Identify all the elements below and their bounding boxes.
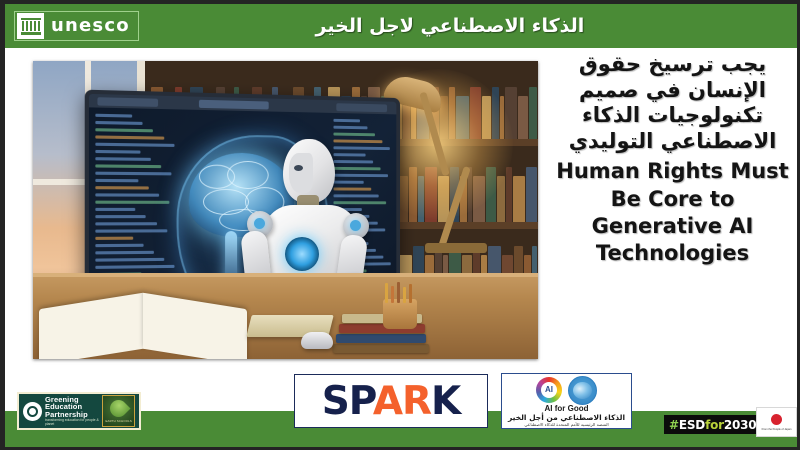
japan-caption: From the People of Japan — [762, 428, 792, 431]
pencil-cup — [383, 299, 417, 329]
gep-badge-caption: EARTH SCHOOLS — [105, 419, 131, 423]
robot-head — [283, 139, 335, 203]
gep-leaf-badge: EARTH SCHOOLS — [102, 395, 135, 427]
desk-surface — [33, 273, 538, 359]
spark-logo[interactable]: SPARK — [294, 374, 488, 428]
greening-education-partnership-logo[interactable]: Greening Education Partnership transform… — [17, 392, 141, 430]
japan-flag-icon — [762, 412, 792, 427]
esd-hash: # — [669, 418, 679, 432]
spark-wordmark: SPARK — [322, 382, 461, 421]
gep-text: Greening Education Partnership transform… — [45, 396, 99, 427]
united-nations-globe-icon — [568, 376, 597, 405]
esd-for-2030-badge[interactable]: #ESDfor2030 — [664, 415, 761, 434]
lamp-base — [425, 243, 487, 253]
japan-donor-mark: From the People of Japan — [756, 407, 797, 437]
header-title: الذكاء الاصطناعي لاجل الخير — [139, 15, 797, 37]
unesco-logo: unesco — [14, 11, 139, 41]
message-panel: يجب ترسيخ حقوق الإنسان في صميم تكنولوجيا… — [548, 52, 797, 268]
gep-globe-icon — [23, 402, 42, 421]
message-arabic: يجب ترسيخ حقوق الإنسان في صميم تكنولوجيا… — [548, 52, 797, 154]
unesco-wordmark: unesco — [51, 17, 130, 35]
open-book — [39, 291, 247, 357]
esd-label: ESD — [679, 418, 705, 432]
ai-mark-label: AI — [541, 382, 557, 398]
ai-for-good-subtitle-ar: المنصة الرئيسية للأمم المتحدة للذكاء الا… — [505, 422, 628, 427]
ai-for-good-title-ar: الذكاء الاصطناعي من أجل الخير — [505, 414, 628, 423]
computer-mouse — [301, 332, 333, 349]
ai-for-good-logo[interactable]: AI AI for Good الذكاء الاصطناعي من أجل ا… — [501, 373, 632, 429]
spark-part2: AR — [373, 379, 431, 424]
header-bar: unesco الذكاء الاصطناعي لاجل الخير — [5, 4, 797, 48]
message-english: Human Rights Must Be Core to Generative … — [548, 158, 797, 267]
esd-year: 2030 — [724, 418, 757, 432]
spark-part1: SP — [322, 379, 373, 424]
poster-slide: unesco الذكاء الاصطناعي لاجل الخير — [0, 0, 800, 450]
spark-part3: K — [431, 379, 460, 424]
ai-for-good-icons: AI — [505, 376, 628, 404]
unesco-temple-icon — [17, 13, 44, 39]
ai-for-good-icon: AI — [536, 377, 562, 403]
gep-tagline: transforming education for people & plan… — [45, 419, 99, 426]
leaf-icon — [107, 396, 131, 420]
pencils — [381, 281, 421, 303]
robot-chest-core-icon — [285, 237, 319, 271]
hero-photo — [33, 61, 538, 359]
gep-line3: Partnership — [45, 411, 99, 419]
esd-for: for — [705, 418, 724, 432]
